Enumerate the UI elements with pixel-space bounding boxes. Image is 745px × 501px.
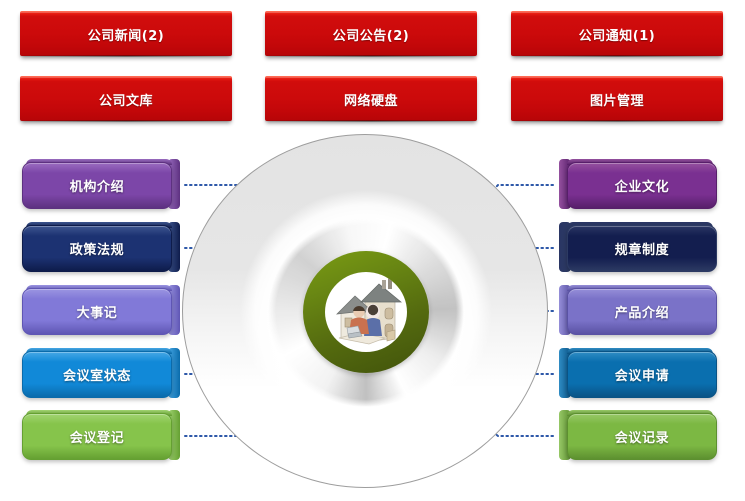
button-face: 规章制度 xyxy=(567,225,717,272)
left-button-meeting-room-status[interactable]: 会议室状态 xyxy=(22,348,180,401)
left-button-meeting-register[interactable]: 会议登记 xyxy=(22,410,180,463)
center-diagram xyxy=(182,134,550,490)
button-face: 会议登记 xyxy=(22,413,172,460)
right-button-rules-regulations[interactable]: 规章制度 xyxy=(559,222,717,275)
top-button-company-notice[interactable]: 公司通知(1) xyxy=(511,11,723,56)
right-button-corporate-culture[interactable]: 企业文化 xyxy=(559,159,717,212)
button-face: 会议申请 xyxy=(567,351,717,398)
right-button-meeting-minutes[interactable]: 会议记录 xyxy=(559,410,717,463)
top-button-image-management[interactable]: 图片管理 xyxy=(511,76,723,121)
button-face: 企业文化 xyxy=(567,162,717,209)
button-face: 政策法规 xyxy=(22,225,172,272)
portal-navigation-page: 公司新闻(2)公司公告(2)公司通知(1)公司文库网络硬盘图片管理 机构介绍政策… xyxy=(0,0,745,501)
office-house-computer-icon xyxy=(325,272,407,352)
left-button-milestones[interactable]: 大事记 xyxy=(22,285,180,338)
right-button-product-introduction[interactable]: 产品介绍 xyxy=(559,285,717,338)
top-button-network-disk[interactable]: 网络硬盘 xyxy=(265,76,477,121)
button-face: 机构介绍 xyxy=(22,162,172,209)
left-button-org-introduction[interactable]: 机构介绍 xyxy=(22,159,180,212)
button-face: 产品介绍 xyxy=(567,288,717,335)
right-button-meeting-application[interactable]: 会议申请 xyxy=(559,348,717,401)
button-face: 会议记录 xyxy=(567,413,717,460)
green-ring xyxy=(303,251,429,373)
button-face: 大事记 xyxy=(22,288,172,335)
button-face: 会议室状态 xyxy=(22,351,172,398)
top-button-company-library[interactable]: 公司文库 xyxy=(20,76,232,121)
left-button-policy-regulation[interactable]: 政策法规 xyxy=(22,222,180,275)
center-disc xyxy=(325,272,407,352)
top-button-company-news[interactable]: 公司新闻(2) xyxy=(20,11,232,56)
top-button-company-announcement[interactable]: 公司公告(2) xyxy=(265,11,477,56)
